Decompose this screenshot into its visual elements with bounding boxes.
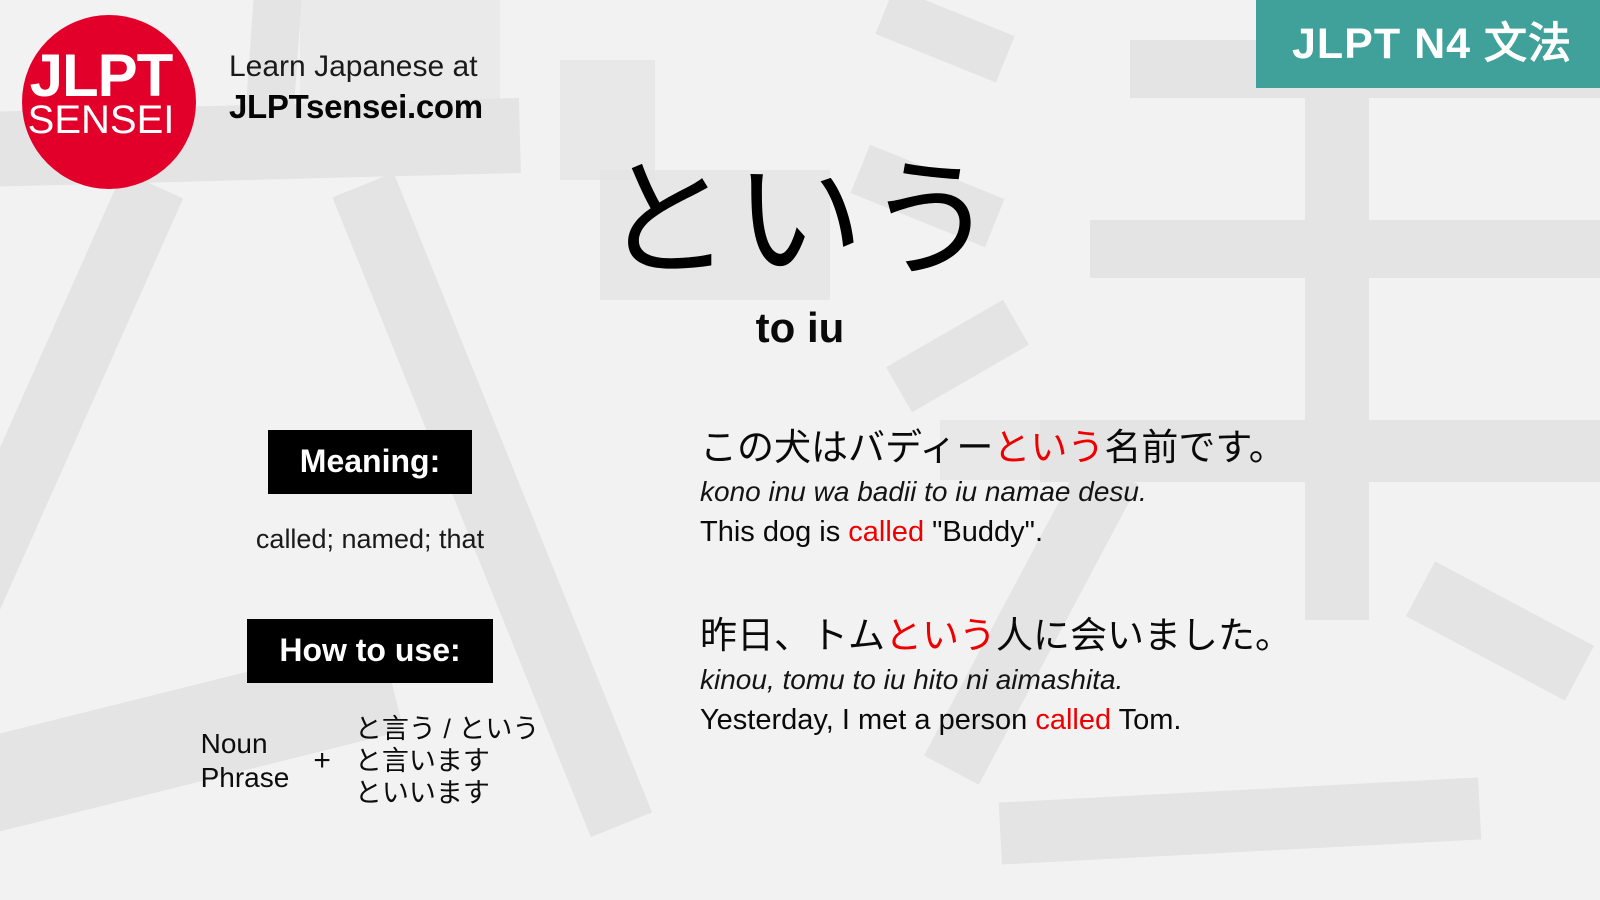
example-sentences-column: この犬はバディーという名前です。 kono inu wa badii to iu… [700, 424, 1570, 740]
brand-site-url: JLPTsensei.com [229, 86, 529, 128]
kanji-hou-stroke-middle-horizontal [1090, 220, 1600, 278]
jlpt-level-badge: JLPT N4 文法 [1256, 0, 1600, 88]
meaning-text: called; named; that [130, 522, 610, 556]
example-1-english: This dog is called "Buddy". [700, 512, 1570, 552]
kanji-hou-stroke-bottom-horizontal [999, 777, 1482, 864]
example-1-japanese: この犬はバディーという名前です。 [700, 424, 1570, 472]
brand-text: Learn Japanese at JLPTsensei.com [229, 48, 529, 128]
grammar-romaji: to iu [520, 304, 1080, 352]
kanji-hou-stroke-radical-1 [875, 0, 1014, 83]
example-sentence-1: この犬はバディーという名前です。 kono inu wa badii to iu… [700, 424, 1570, 552]
logo-primary-text: JLPT [14, 46, 188, 106]
example-1-jp-highlight: という [993, 427, 1104, 468]
example-1-en-pre: This dog is [700, 516, 848, 548]
example-1-jp-pre: この犬はバディー [700, 427, 993, 468]
example-1-en-highlight: called [848, 516, 924, 548]
example-2-jp-post: 人に会いました。 [996, 615, 1292, 656]
jlpt-level-badge-label: JLPT N4 文法 [1292, 20, 1572, 68]
grammar-term: という [520, 150, 1080, 290]
example-2-en-pre: Yesterday, I met a person [700, 704, 1035, 736]
usage-formula-row: Noun Phrase + と言う / という と言います といいます [130, 713, 610, 809]
example-2-romaji: kinou, tomu to iu hito ni aimashita. [700, 660, 1570, 700]
example-1-en-post: "Buddy". [924, 516, 1043, 548]
example-2-jp-pre: 昨日、トム [700, 615, 885, 656]
usage-formula-right: と言う / という と言います といいます [355, 713, 540, 809]
usage-formula-left: Noun Phrase [201, 727, 290, 795]
logo-secondary-text: SENSEI [14, 100, 188, 140]
meaning-section: Meaning: called; named; that [130, 430, 610, 556]
usage-formula-operator: + [307, 744, 337, 778]
example-1-romaji: kono inu wa badii to iu namae desu. [700, 472, 1570, 512]
grammar-card: JLPT SENSEI Learn Japanese at JLPTsensei… [0, 0, 1600, 900]
example-2-en-post: Tom. [1111, 704, 1181, 736]
example-2-jp-highlight: という [885, 615, 996, 656]
example-1-jp-post: 名前です。 [1104, 427, 1285, 468]
how-to-use-section: How to use: Noun Phrase + と言う / という と言いま… [130, 619, 610, 809]
grammar-info-column: Meaning: called; named; that How to use:… [130, 430, 610, 809]
example-2-en-highlight: called [1035, 704, 1111, 736]
example-sentence-2: 昨日、トムという人に会いました。 kinou, tomu to iu hito … [700, 612, 1570, 740]
grammar-title-block: という to iu [520, 150, 1080, 352]
example-2-english: Yesterday, I met a person called Tom. [700, 700, 1570, 740]
example-2-japanese: 昨日、トムという人に会いました。 [700, 612, 1570, 660]
brand-tagline: Learn Japanese at [229, 48, 529, 86]
brand-logo-block[interactable]: JLPT SENSEI Learn Japanese at JLPTsensei… [14, 8, 524, 188]
meaning-tag: Meaning: [268, 430, 472, 494]
how-to-use-tag: How to use: [247, 619, 492, 683]
